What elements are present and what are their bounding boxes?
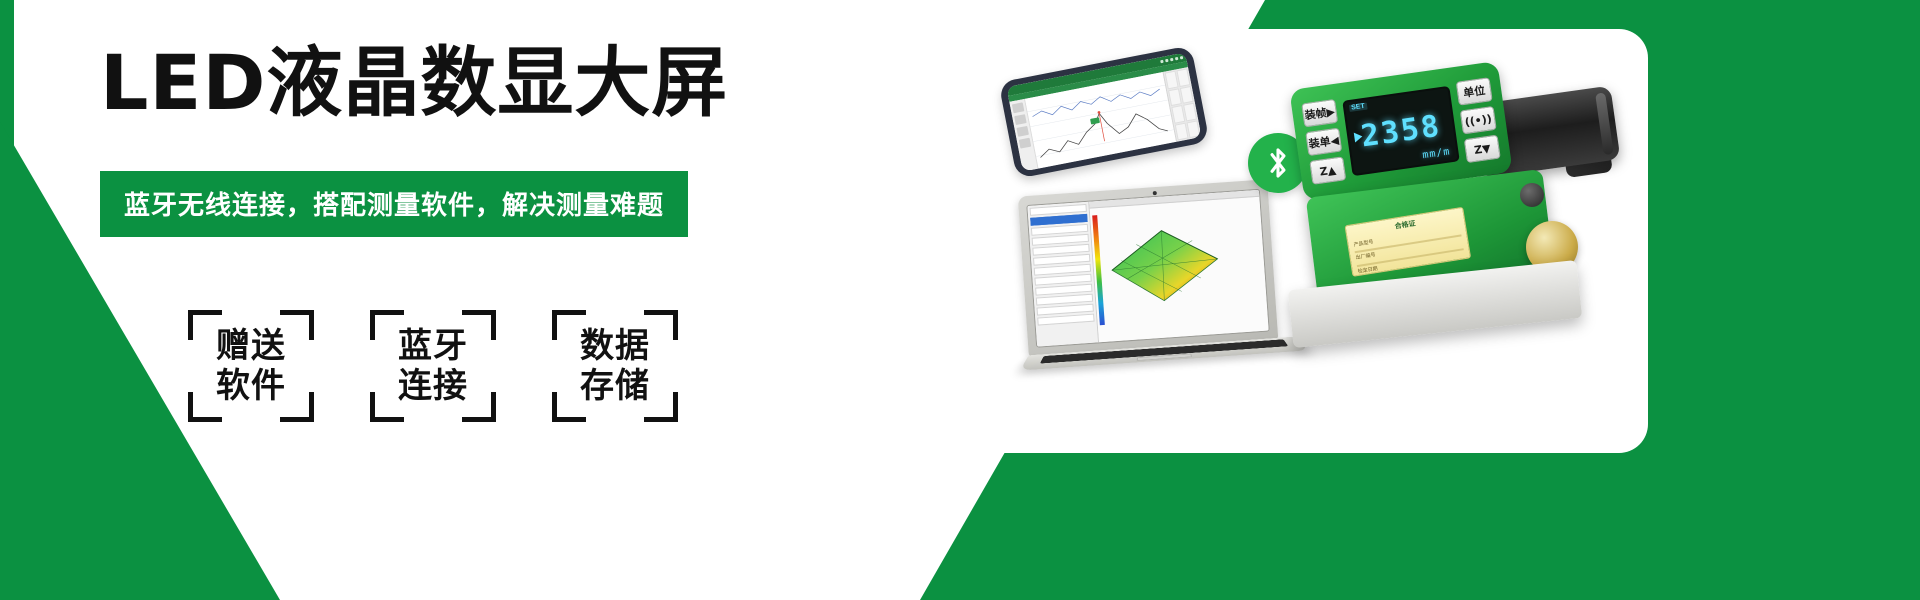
device-small-knob[interactable] <box>1520 183 1544 207</box>
corner-bracket-bottom-left-icon <box>188 392 222 422</box>
keypad-key <box>1186 120 1200 138</box>
rail-button-icon <box>1016 126 1029 137</box>
device-nameplate: 合格证 产品型号 出厂编号 检定日期 <box>1344 207 1471 277</box>
corner-bracket-top-right-icon <box>280 310 314 340</box>
page-title: LED液晶数显大屏 <box>100 40 860 125</box>
status-dot-icon <box>1180 56 1184 60</box>
software-side-panel <box>1027 202 1099 347</box>
smartphone-measurement-app <box>998 45 1209 179</box>
device-button-zhuangzhen[interactable]: 装帧▶ <box>1301 99 1338 127</box>
device-button-z-up[interactable]: Z▲ <box>1309 156 1346 184</box>
lcd-mode-tag: SET <box>1349 103 1367 112</box>
corner-bracket-top-right-icon <box>644 310 678 340</box>
badge-line-2: 软件 <box>216 366 286 406</box>
corner-bracket-top-left-icon <box>552 310 586 340</box>
text-column: LED液晶数显大屏 蓝牙无线连接，搭配测量软件，解决测量难题 <box>100 40 860 560</box>
corner-bracket-top-left-icon <box>188 310 222 340</box>
keypad-key <box>1180 86 1194 104</box>
badge-line-2: 存储 <box>580 366 650 406</box>
corner-bracket-bottom-left-icon <box>552 392 586 422</box>
lcd-arrow-icon <box>1354 131 1363 142</box>
panel-row <box>1037 314 1094 326</box>
badge-line-1: 蓝牙 <box>398 326 468 366</box>
corner-bracket-bottom-left-icon <box>370 392 404 422</box>
feature-badge-software: 赠送 软件 <box>188 310 314 422</box>
device-button-z-down[interactable]: Z▼ <box>1464 135 1501 163</box>
feature-badge-group: 赠送 软件 蓝牙 连接 数据 存储 <box>188 310 678 422</box>
keypad-key <box>1176 68 1190 86</box>
rail-button-icon <box>1014 114 1027 125</box>
laptop-analysis-software <box>1018 178 1301 386</box>
lcd-unit-label: mm/m <box>1422 146 1451 161</box>
corner-bracket-top-left-icon <box>370 310 404 340</box>
digital-level-device: 装帧▶ 装单◀ Z▲ SET 2358 mm/m 单位 ((•)) Z▼ <box>1268 71 1628 421</box>
feature-badge-storage: 数据 存储 <box>552 310 678 422</box>
corner-bracket-bottom-right-icon <box>644 392 678 422</box>
laptop-lid <box>1018 179 1279 356</box>
rail-button-icon <box>1012 102 1025 113</box>
badge-line-1: 数据 <box>580 326 650 366</box>
promo-banner: LED液晶数显大屏 蓝牙无线连接，搭配测量软件，解决测量难题 赠送 软件 蓝牙 … <box>0 0 1920 600</box>
lcd-value: 2358 <box>1359 108 1443 154</box>
laptop-screen <box>1026 189 1269 348</box>
device-lcd-display: SET 2358 mm/m <box>1342 86 1460 176</box>
corner-bracket-bottom-right-icon <box>280 392 314 422</box>
keypad-key <box>1183 103 1197 121</box>
rail-button-icon <box>1019 138 1032 149</box>
status-dot-icon <box>1160 60 1164 64</box>
badge-line-2: 连接 <box>398 366 468 406</box>
status-dot-icon <box>1165 59 1169 63</box>
device-button-wireless[interactable]: ((•)) <box>1460 106 1497 134</box>
phone-screen <box>1006 52 1201 171</box>
status-dot-icon <box>1175 57 1179 61</box>
badge-line-1: 赠送 <box>216 326 286 366</box>
status-dot-icon <box>1170 58 1174 62</box>
product-photo-stage: 装帧▶ 装单◀ Z▲ SET 2358 mm/m 单位 ((•)) Z▼ <box>978 35 1642 447</box>
device-button-zhuangdan[interactable]: 装单◀ <box>1305 128 1342 156</box>
subtitle-bar: 蓝牙无线连接，搭配测量软件，解决测量难题 <box>100 171 688 237</box>
feature-badge-bluetooth: 蓝牙 连接 <box>370 310 496 422</box>
software-main-view <box>1089 190 1268 343</box>
flatness-surface-plot-icon <box>1101 215 1227 315</box>
corner-bracket-top-right-icon <box>462 310 496 340</box>
software-titlebar <box>1089 190 1259 209</box>
corner-bracket-bottom-right-icon <box>462 392 496 422</box>
device-button-unit[interactable]: 单位 <box>1456 77 1493 105</box>
device-left-button-column: 装帧▶ 装单◀ Z▲ <box>1301 99 1346 185</box>
webcam-icon <box>1153 191 1157 195</box>
device-right-button-column: 单位 ((•)) Z▼ <box>1456 77 1501 163</box>
